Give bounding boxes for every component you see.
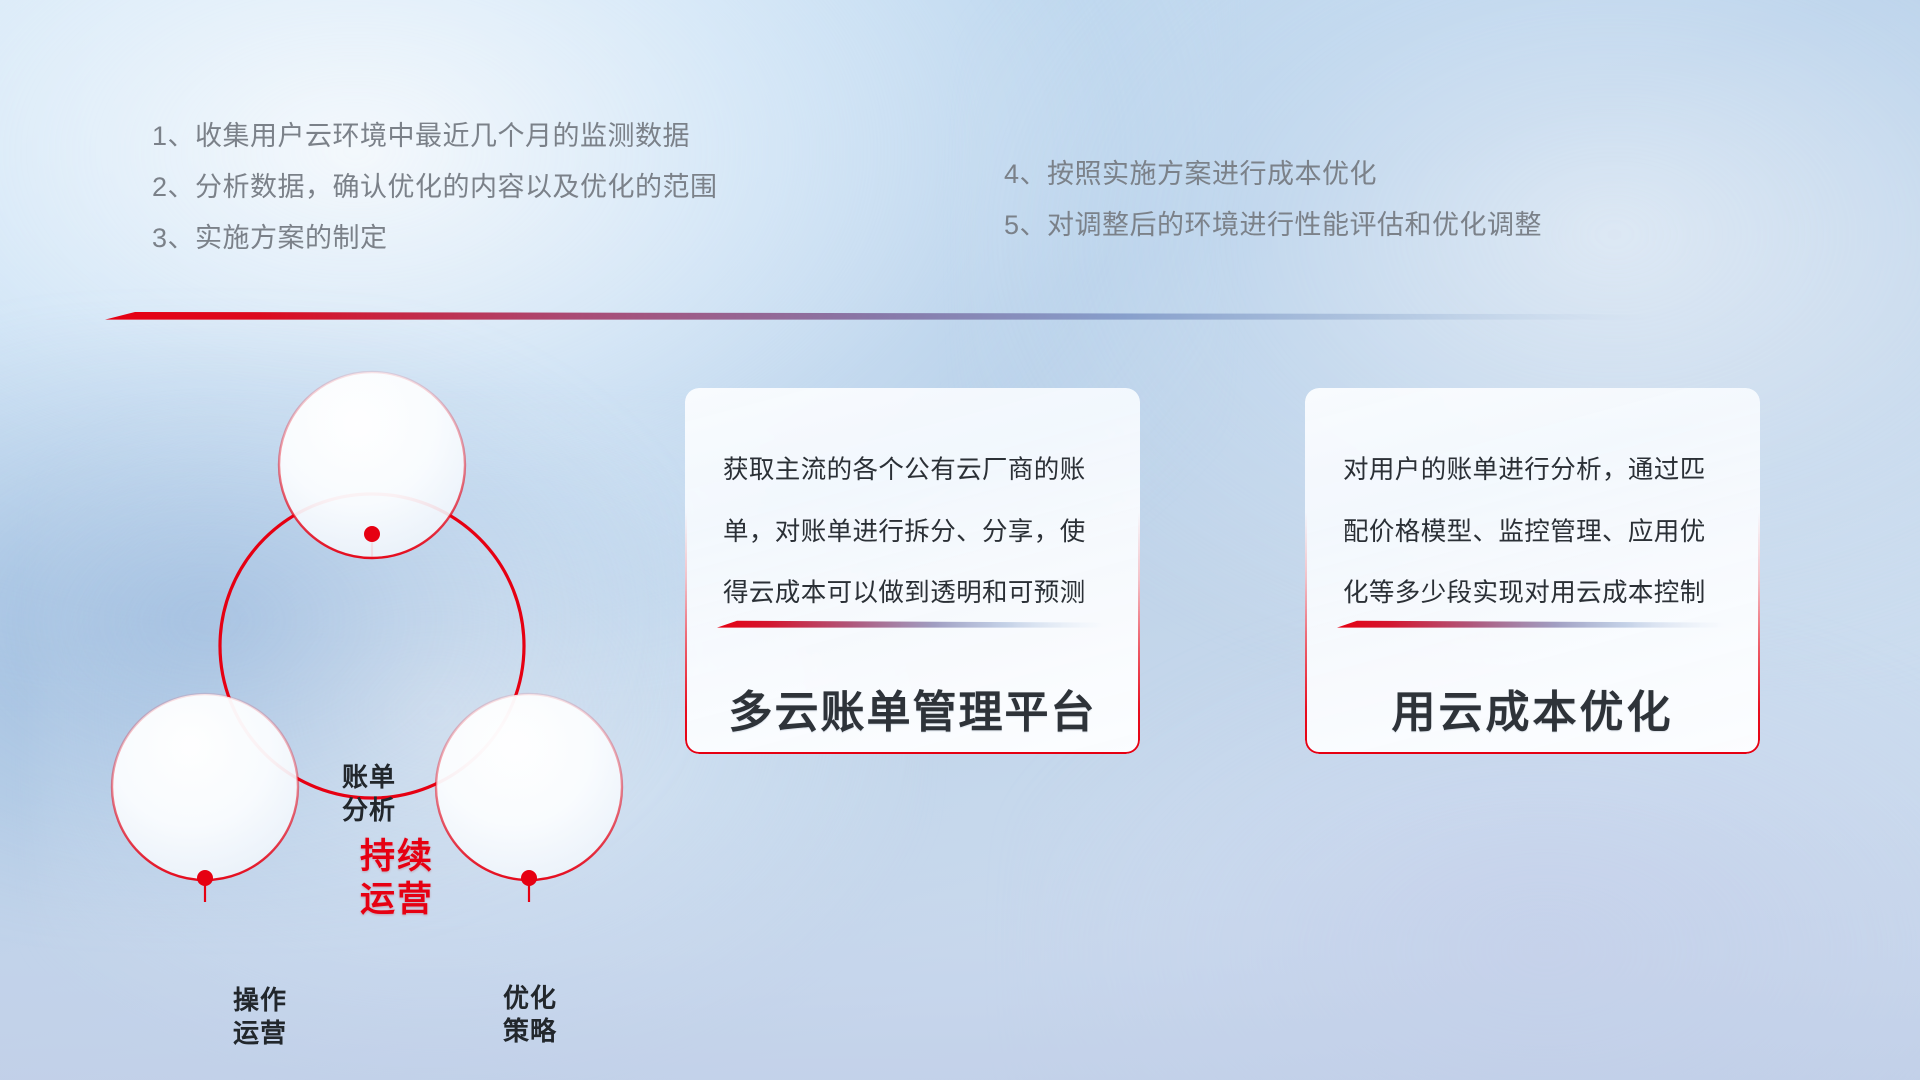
step-item-4: 4、按照实施方案进行成本优化 <box>1004 161 1542 188</box>
steps-list-right: 4、按照实施方案进行成本优化 5、对调整后的环境进行性能评估和优化调整 <box>1004 161 1542 239</box>
card-body-text: 获取主流的各个公有云厂商的账单，对账单进行拆分、分享，使得云成本可以做到透明和可… <box>723 440 1105 625</box>
node-dot-top <box>364 526 380 542</box>
card-cloud-cost-optimization[interactable]: 对用户的账单进行分析，通过匹配价格模型、监控管理、应用优化等多少段实现对用云成本… <box>1305 388 1760 754</box>
diagram-center-label: 持续 运营 <box>317 835 477 922</box>
diagram-node-label-bill-analysis: 账单 分析 <box>304 761 434 828</box>
card-title: 多云账单管理平台 <box>685 676 1140 740</box>
steps-list-left: 1、收集用户云环境中最近几个月的监测数据 2、分析数据，确认优化的内容以及优化的… <box>152 123 718 252</box>
card-body-text: 对用户的账单进行分析，通过匹配价格模型、监控管理、应用优化等多少段实现对用云成本… <box>1343 440 1725 625</box>
step-item-3: 3、实施方案的制定 <box>152 225 718 252</box>
card-divider <box>717 620 1107 628</box>
node-dot-left <box>197 870 213 886</box>
card-multicloud-billing[interactable]: 获取主流的各个公有云厂商的账单，对账单进行拆分、分享，使得云成本可以做到透明和可… <box>685 388 1140 754</box>
continuous-operations-diagram: 账单 分析 操作 运营 优化 策略 持续 运营 <box>95 350 655 950</box>
diagram-node-label-optimization-strategy: 优化 策略 <box>465 982 595 1049</box>
section-divider <box>105 311 1650 320</box>
bubble-operation-ops <box>112 694 298 880</box>
step-item-2: 2、分析数据，确认优化的内容以及优化的范围 <box>152 174 718 201</box>
diagram-node-label-operation-ops: 操作 运营 <box>195 984 325 1051</box>
card-title: 用云成本优化 <box>1305 676 1760 740</box>
step-item-5: 5、对调整后的环境进行性能评估和优化调整 <box>1004 212 1542 239</box>
slide-canvas: 1、收集用户云环境中最近几个月的监测数据 2、分析数据，确认优化的内容以及优化的… <box>0 0 1920 1080</box>
step-item-1: 1、收集用户云环境中最近几个月的监测数据 <box>152 123 718 150</box>
card-divider <box>1337 620 1727 628</box>
node-dot-right <box>521 870 537 886</box>
